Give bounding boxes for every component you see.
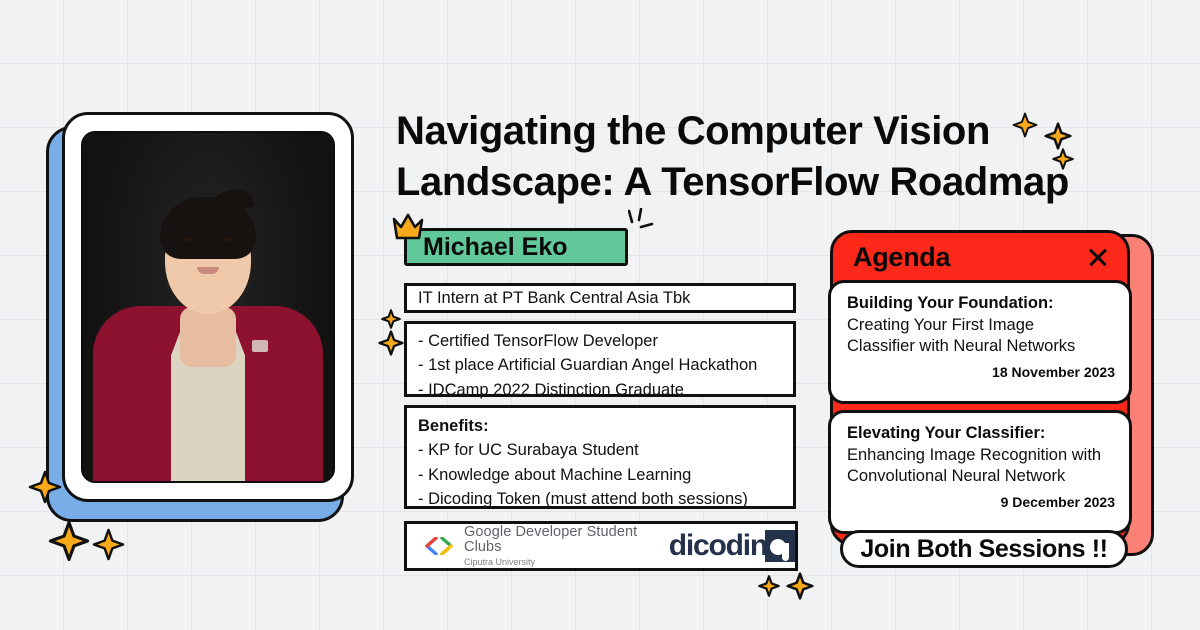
poster-canvas: Navigating the Computer Vision Landscape… bbox=[0, 0, 1200, 630]
sponsor-logos-box: Google Developer Student Clubs Ciputra U… bbox=[404, 521, 798, 571]
session-title: Elevating Your Classifier: bbox=[847, 424, 1115, 443]
gdsc-chapter: Ciputra University bbox=[464, 558, 651, 567]
gdsc-text: Google Developer Student Clubs Ciputra U… bbox=[464, 525, 651, 567]
gdsc-name: Google Developer Student Clubs bbox=[464, 525, 651, 555]
close-icon[interactable] bbox=[1087, 246, 1109, 268]
agenda-title: Agenda bbox=[853, 242, 950, 273]
benefit-item: - Knowledge about Machine Learning bbox=[418, 463, 793, 487]
session-description-line-2: Classifier with Neural Networks bbox=[847, 336, 1115, 357]
dicoding-g-mark-icon bbox=[765, 530, 795, 562]
credential-item: - 1st place Artificial Guardian Angel Ha… bbox=[418, 353, 793, 377]
dicoding-wordmark: dicodin bbox=[669, 529, 767, 563]
speaker-name-badge-wrap: Michael Eko bbox=[404, 228, 628, 266]
gdsc-brackets-icon bbox=[425, 537, 455, 555]
speaker-portrait-image bbox=[81, 131, 335, 483]
session-description-line-1: Creating Your First Image bbox=[847, 315, 1115, 336]
sparkle-icon bbox=[28, 470, 62, 504]
speaker-credentials-box: - Certified TensorFlow Developer - 1st p… bbox=[404, 321, 796, 397]
dicoding-logo: dicodin bbox=[669, 529, 795, 563]
portrait-eye-right bbox=[223, 237, 232, 241]
speaker-role: IT Intern at PT Bank Central Asia Tbk bbox=[418, 289, 690, 308]
crown-icon bbox=[390, 211, 426, 243]
page-title: Navigating the Computer Vision Landscape… bbox=[396, 106, 1096, 208]
portrait-university-pin bbox=[252, 340, 268, 352]
benefits-box: Benefits: - KP for UC Surabaya Student -… bbox=[404, 405, 796, 509]
sparkle-icon bbox=[92, 528, 125, 561]
sparkle-icon bbox=[378, 330, 404, 356]
sparkle-icon bbox=[381, 309, 401, 329]
title-line-1: Navigating the Computer Vision bbox=[396, 106, 1096, 157]
portrait-mouth bbox=[197, 267, 219, 274]
benefit-item: - KP for UC Surabaya Student bbox=[418, 438, 793, 462]
sparkle-icon bbox=[48, 520, 90, 562]
speaker-name: Michael Eko bbox=[423, 233, 568, 262]
session-title: Building Your Foundation: bbox=[847, 294, 1115, 313]
portrait-eye-left bbox=[184, 237, 193, 241]
credential-item: - Certified TensorFlow Developer bbox=[418, 329, 793, 353]
portrait-hair bbox=[160, 197, 256, 259]
session-description-line-1: Enhancing Image Recognition with bbox=[847, 445, 1115, 466]
cta-label: Join Both Sessions !! bbox=[860, 535, 1107, 564]
session-description-line-2: Convolutional Neural Network bbox=[847, 466, 1115, 487]
speaker-photo-card bbox=[62, 112, 354, 502]
emphasis-lines-icon bbox=[628, 208, 660, 236]
speaker-role-box: IT Intern at PT Bank Central Asia Tbk bbox=[404, 283, 796, 313]
sparkle-icon bbox=[786, 572, 814, 600]
speaker-name-badge: Michael Eko bbox=[404, 228, 628, 266]
portrait-neck bbox=[180, 307, 236, 367]
join-both-sessions-cta[interactable]: Join Both Sessions !! bbox=[840, 530, 1128, 568]
session-date: 9 December 2023 bbox=[847, 494, 1115, 510]
credential-item: - IDCamp 2022 Distinction Graduate bbox=[418, 378, 793, 402]
agenda-session-card[interactable]: Building Your Foundation: Creating Your … bbox=[828, 280, 1132, 404]
sparkle-icon bbox=[1012, 112, 1038, 138]
benefit-item: - Dicoding Token (must attend both sessi… bbox=[418, 487, 793, 511]
sparkle-icon bbox=[758, 575, 780, 597]
benefits-heading: Benefits: bbox=[418, 414, 793, 438]
session-date: 18 November 2023 bbox=[847, 364, 1115, 380]
agenda-header: Agenda bbox=[833, 233, 1127, 281]
sparkle-icon bbox=[1044, 122, 1072, 150]
sparkle-icon bbox=[1052, 148, 1074, 170]
agenda-session-card[interactable]: Elevating Your Classifier: Enhancing Ima… bbox=[828, 410, 1132, 534]
title-line-2: Landscape: A TensorFlow Roadmap bbox=[396, 157, 1096, 208]
gdsc-logo: Google Developer Student Clubs Ciputra U… bbox=[425, 525, 651, 567]
photo-frame bbox=[62, 112, 354, 502]
